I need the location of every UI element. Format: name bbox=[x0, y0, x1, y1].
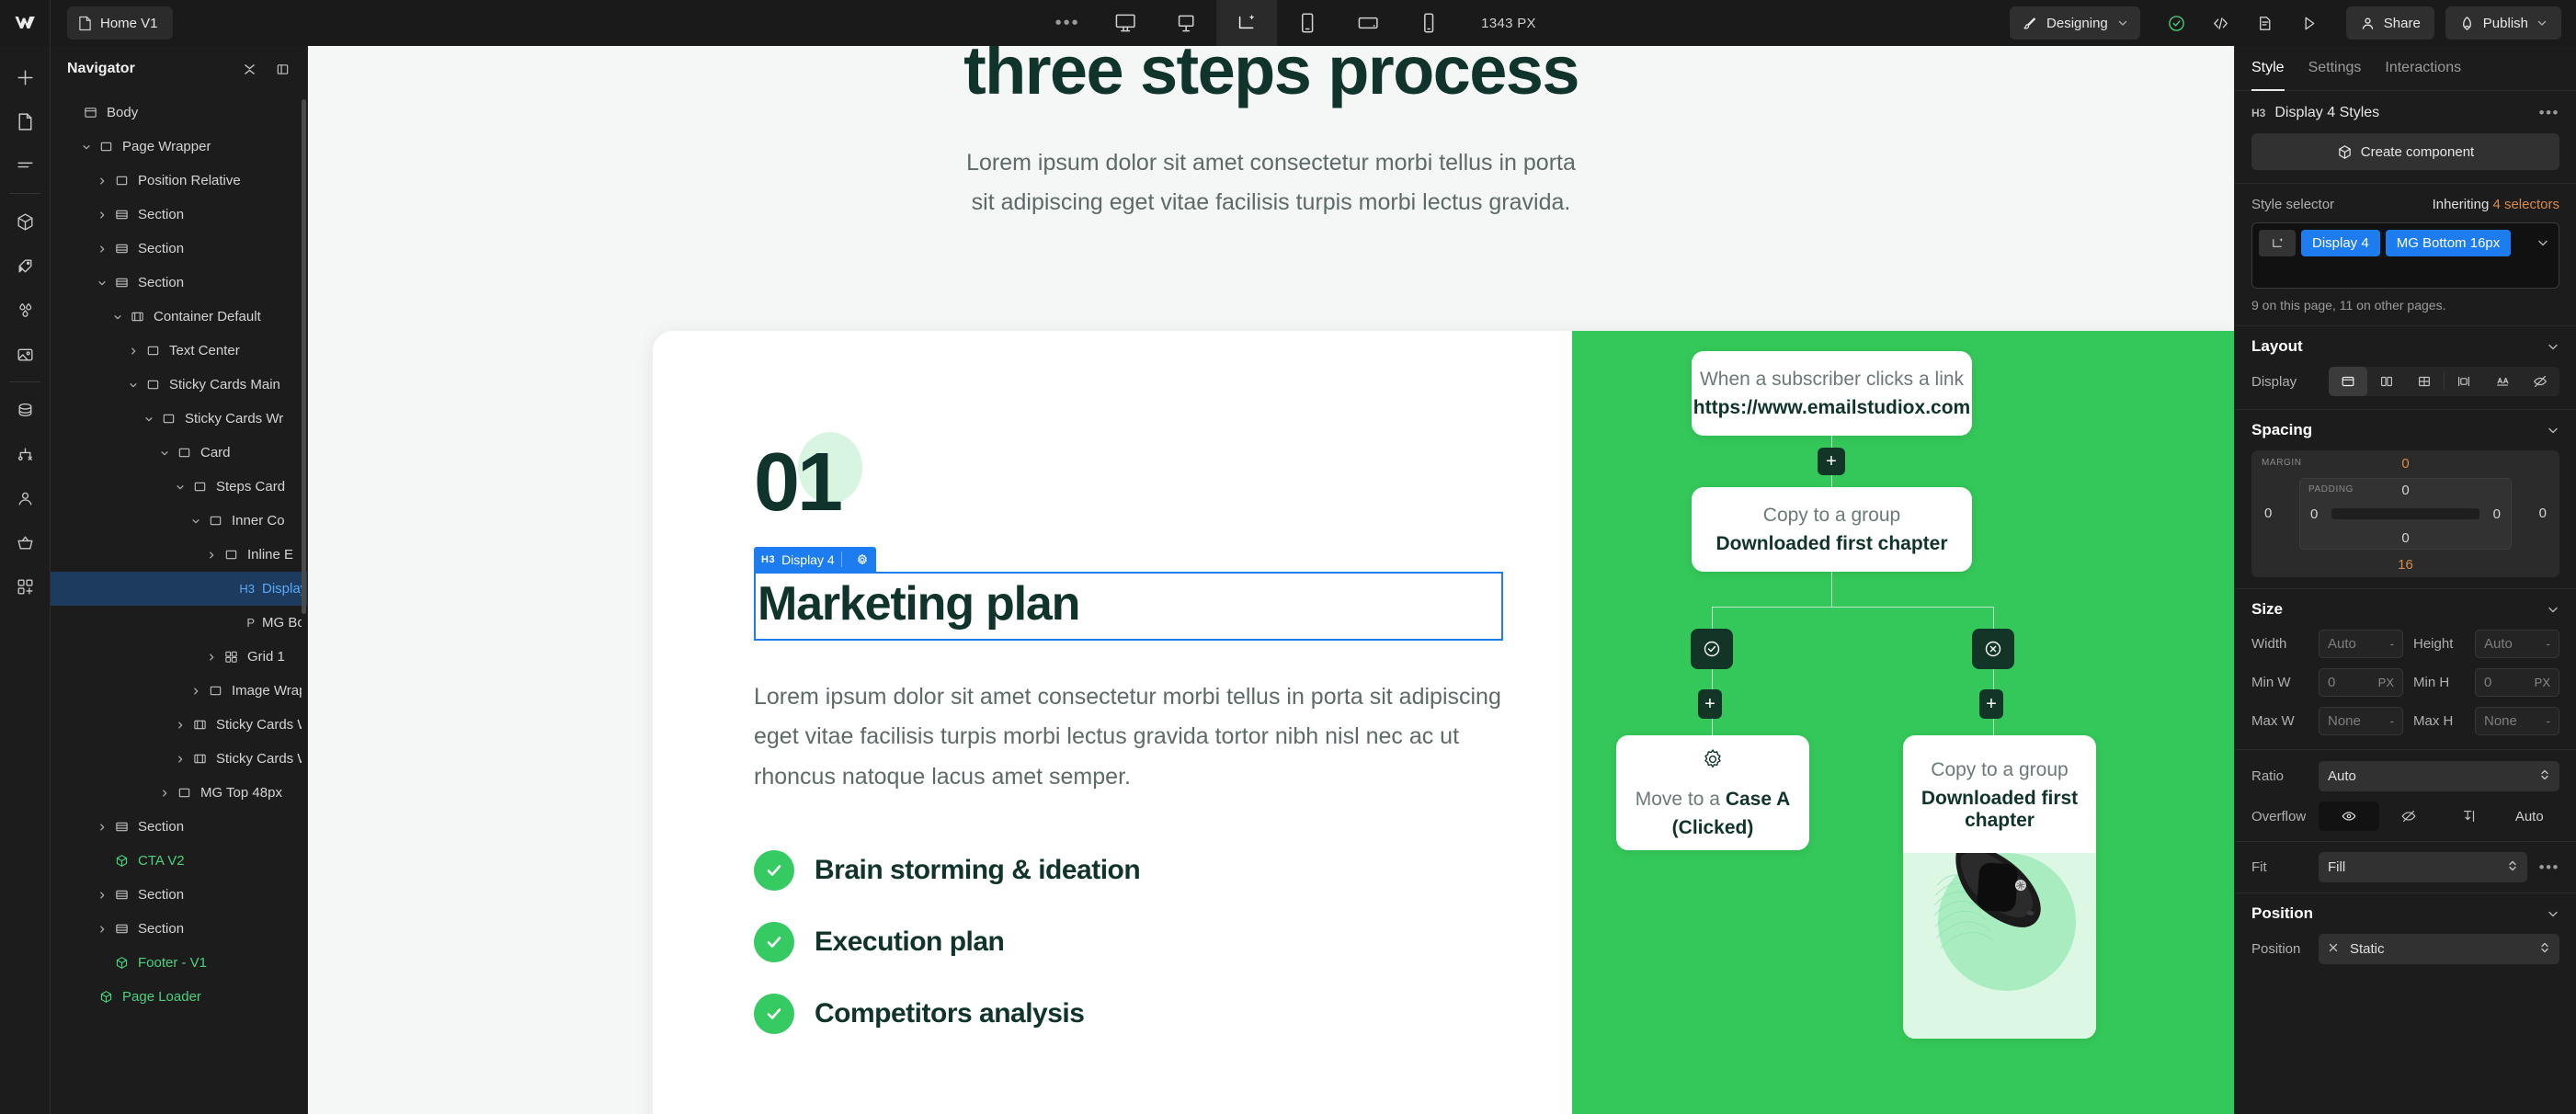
twisty-closed[interactable] bbox=[93, 198, 111, 232]
twisty-closed[interactable] bbox=[202, 640, 221, 674]
container-icon bbox=[189, 718, 210, 732]
selection-badge[interactable]: H3 Display 4 bbox=[754, 547, 876, 572]
width-label: Width bbox=[2251, 636, 2308, 652]
share-button[interactable]: Share bbox=[2346, 6, 2434, 40]
navigator-item-steps-card[interactable]: Steps Card bbox=[51, 470, 307, 504]
navigator-item-section[interactable]: Section bbox=[51, 232, 307, 266]
breakpoint-base-active[interactable] bbox=[1216, 0, 1277, 46]
add-elements-button[interactable] bbox=[0, 55, 51, 99]
publish-status-button[interactable] bbox=[2157, 3, 2197, 43]
spacing-widget[interactable]: MARGIN 0 0 0 16 PADDING 0 0 0 0 bbox=[2251, 450, 2559, 577]
fit-value: Fill bbox=[2328, 859, 2345, 875]
position-header[interactable]: Position bbox=[2235, 893, 2576, 934]
selector-chip-display4[interactable]: Display 4 bbox=[2301, 230, 2380, 256]
twisty-none bbox=[218, 606, 236, 640]
breakpoint-desktop-large[interactable] bbox=[1095, 0, 1156, 46]
navigator-item-inner-co[interactable]: Inner Co bbox=[51, 504, 307, 538]
margin-top-value[interactable]: 0 bbox=[2401, 456, 2409, 472]
container-icon bbox=[127, 310, 147, 324]
rail-divider bbox=[9, 193, 40, 194]
padding-right-value[interactable]: 0 bbox=[2493, 506, 2501, 522]
navigator-item-sticky-cards-wr[interactable]: Sticky Cards Wr bbox=[51, 402, 307, 436]
navigator-item-label: Sticky Cards Main bbox=[169, 377, 280, 392]
navigator-item-section[interactable]: Section bbox=[51, 266, 307, 300]
canvas-width-label: 1343 PX bbox=[1481, 16, 1536, 31]
navigator-item-label: Steps Card bbox=[216, 479, 285, 494]
padding-left-value[interactable]: 0 bbox=[2310, 506, 2318, 522]
audit-button[interactable] bbox=[2245, 3, 2285, 43]
padding-label: PADDING bbox=[2308, 484, 2354, 494]
size-header[interactable]: Size bbox=[2235, 589, 2576, 630]
designer-body: Navigator BodyPage WrapperPosition Relat… bbox=[0, 46, 2576, 1114]
check-circle-icon bbox=[754, 850, 794, 891]
margin-bottom-value[interactable]: 16 bbox=[2398, 557, 2413, 573]
branch-no-icon[interactable] bbox=[1972, 629, 2014, 669]
add-step-button-2[interactable]: + bbox=[1698, 689, 1722, 719]
promo-image: Get 10% OFF on your next purchase Lorem … bbox=[1903, 853, 2096, 1039]
padding-top-value[interactable]: 0 bbox=[2401, 483, 2409, 498]
flow-node-promo-line2: Downloaded first chapter bbox=[1903, 788, 2096, 832]
step-number[interactable]: 01 bbox=[754, 441, 840, 524]
navigator-item-mg-top-48px[interactable]: MG Top 48px bbox=[51, 776, 307, 810]
code-button[interactable] bbox=[2201, 3, 2241, 43]
selected-element-wrapper: H3 Display 4 Marketing plan bbox=[754, 572, 1503, 641]
fit-select[interactable]: Fill bbox=[2319, 852, 2527, 882]
select-arrows-icon bbox=[2539, 941, 2550, 958]
navigator-item-label: CTA V2 bbox=[138, 853, 185, 869]
navigator-title: Navigator bbox=[67, 61, 228, 77]
breakpoint-mobile-landscape[interactable] bbox=[1338, 0, 1398, 46]
maxh-unit: - bbox=[2547, 714, 2550, 728]
connector-branch-horizontal bbox=[1712, 607, 1993, 608]
navigator-item-label: MG Bo bbox=[262, 615, 302, 631]
body-icon bbox=[80, 106, 100, 119]
users-button[interactable] bbox=[0, 476, 51, 520]
publish-button[interactable]: Publish bbox=[2445, 6, 2561, 40]
overflow-label: Overflow bbox=[2251, 809, 2308, 824]
element-style-more-button[interactable]: ••• bbox=[2539, 104, 2559, 122]
selector-chip-mg-bottom[interactable]: MG Bottom 16px bbox=[2386, 230, 2512, 256]
steps-card: 01 H3 Display 4 bbox=[653, 331, 2234, 1114]
position-label: Position bbox=[2251, 941, 2308, 957]
eye-off-icon bbox=[2400, 808, 2417, 824]
component-cube-icon bbox=[15, 211, 36, 233]
webflow-logo-icon[interactable] bbox=[0, 0, 51, 46]
chevron-down-icon bbox=[2536, 236, 2549, 249]
navigator-item-cta-v2[interactable]: CTA V2 bbox=[51, 844, 307, 878]
close-icon bbox=[2328, 941, 2339, 954]
navigator-item-label: Section bbox=[138, 275, 184, 290]
navigator-item-position-relative[interactable]: Position Relative bbox=[51, 164, 307, 198]
maxw-label: Max W bbox=[2251, 713, 2308, 729]
layout-header[interactable]: Layout bbox=[2235, 326, 2576, 367]
navigator-item-image-wrap[interactable]: Image Wrap bbox=[51, 674, 307, 708]
section-icon bbox=[111, 276, 131, 290]
selected-heading-box[interactable]: Marketing plan bbox=[754, 572, 1503, 641]
width-input[interactable]: Auto- bbox=[2319, 630, 2403, 658]
navigator-item-body[interactable]: Body bbox=[51, 96, 307, 130]
section-icon bbox=[111, 820, 131, 834]
navigator-item-label: Page Wrapper bbox=[122, 139, 211, 154]
element-tag: H3 bbox=[236, 582, 255, 596]
components-button[interactable] bbox=[0, 199, 51, 244]
twisty-closed[interactable] bbox=[171, 742, 189, 776]
size-divider bbox=[2235, 749, 2576, 750]
twisty-open[interactable] bbox=[171, 470, 189, 504]
plus-icon bbox=[15, 67, 36, 88]
margin-label: MARGIN bbox=[2262, 458, 2302, 468]
maxw-unit: - bbox=[2390, 714, 2394, 728]
margin-right-value[interactable]: 0 bbox=[2539, 506, 2547, 521]
mobile-landscape-icon bbox=[1356, 11, 1380, 35]
left-toolbar bbox=[0, 46, 51, 1114]
style-manager-button[interactable] bbox=[0, 244, 51, 288]
rail-divider-2 bbox=[9, 381, 40, 382]
navigator-item-sticky-cards-wr[interactable]: Sticky Cards Wr bbox=[51, 708, 307, 742]
navigator-item-text-center[interactable]: Text Center bbox=[51, 334, 307, 368]
hero-subtext-line1: Lorem ipsum dolor sit amet consectetur m… bbox=[904, 143, 1639, 183]
ecommerce-button[interactable] bbox=[0, 520, 51, 564]
navigator-button[interactable] bbox=[0, 143, 51, 188]
navigator-item-display[interactable]: H3Display bbox=[51, 572, 307, 606]
navigator-item-sticky-cards-main[interactable]: Sticky Cards Main bbox=[51, 368, 307, 402]
breakpoints-more-button[interactable]: ••• bbox=[1040, 0, 1095, 46]
twisty-open[interactable] bbox=[140, 402, 158, 436]
panel-dock-button[interactable] bbox=[270, 57, 294, 81]
top-toolbar-right: Designing Share Publish bbox=[2010, 3, 2576, 43]
connector-branch-right bbox=[1993, 607, 1994, 629]
display-mode-segmented bbox=[2329, 367, 2559, 396]
canvas-viewport: three steps process Lorem ipsum dolor si… bbox=[308, 46, 2234, 1114]
div-icon bbox=[205, 514, 225, 528]
navigator-item-label: Section bbox=[138, 241, 184, 256]
mode-selector[interactable]: Designing bbox=[2010, 6, 2140, 40]
overflow-hidden-button[interactable] bbox=[2379, 801, 2440, 831]
flow-node-move-case-line1: Move to a Case A bbox=[1636, 789, 1791, 811]
navigator-item-section[interactable]: Section bbox=[51, 912, 307, 946]
navigator-item-label: Section bbox=[138, 921, 184, 937]
gear-icon bbox=[856, 553, 869, 566]
flow-node-copy-group[interactable]: Copy to a group Downloaded first chapter bbox=[1692, 487, 1972, 572]
element-style-name: Display 4 Styles bbox=[2274, 105, 2529, 121]
navigator-item-sticky-cards-wr[interactable]: Sticky Cards Wr bbox=[51, 742, 307, 776]
branch-yes-icon[interactable] bbox=[1691, 629, 1733, 669]
minw-value: 0 bbox=[2328, 675, 2335, 690]
fit-more-button[interactable]: ••• bbox=[2537, 858, 2559, 877]
flow-node-move-case-line2: (Clicked) bbox=[1672, 817, 1754, 839]
apps-button[interactable] bbox=[0, 564, 51, 608]
move-case-name: Case A bbox=[1726, 789, 1790, 810]
move-prefix: Move to a bbox=[1636, 789, 1726, 810]
navigator-item-inline-e[interactable]: Inline E bbox=[51, 538, 307, 572]
add-step-button-1[interactable]: + bbox=[1818, 448, 1845, 475]
margin-left-value[interactable]: 0 bbox=[2264, 506, 2272, 521]
users-icon bbox=[15, 488, 36, 509]
variables-button[interactable] bbox=[0, 288, 51, 332]
min-size-row: Min W 0PX Min H 0PX bbox=[2235, 668, 2576, 707]
twisty-open[interactable] bbox=[155, 436, 174, 470]
display-block-icon bbox=[2340, 373, 2356, 390]
display-label: Display bbox=[2251, 374, 2318, 390]
navigator-item-label: Sticky Cards Wr bbox=[185, 411, 283, 426]
selection-settings-button[interactable] bbox=[849, 553, 876, 566]
ratio-select[interactable]: Auto bbox=[2319, 761, 2559, 791]
div-icon bbox=[174, 446, 194, 460]
select-arrows-icon bbox=[2539, 768, 2550, 785]
twisty-open[interactable] bbox=[93, 266, 111, 300]
selector-dropdown-button[interactable] bbox=[2536, 236, 2549, 253]
fit-label: Fit bbox=[2251, 859, 2308, 875]
selector-state-button[interactable] bbox=[2259, 230, 2296, 256]
display-inline-block-icon bbox=[2456, 373, 2472, 390]
navigator-item-page-loader[interactable]: Page Loader bbox=[51, 980, 307, 1014]
twisty-closed[interactable] bbox=[171, 708, 189, 742]
twisty-closed[interactable] bbox=[187, 674, 205, 708]
monitor-large-icon bbox=[1113, 11, 1137, 35]
section-icon bbox=[111, 922, 131, 936]
display-none-button[interactable] bbox=[2521, 367, 2559, 396]
padding-bottom-value[interactable]: 0 bbox=[2401, 530, 2409, 546]
maxh-input[interactable]: None- bbox=[2475, 707, 2559, 735]
navigator-item-grid-1[interactable]: Grid 1 bbox=[51, 640, 307, 674]
ratio-row: Ratio Auto bbox=[2235, 761, 2576, 801]
tab-interactions[interactable]: Interactions bbox=[2385, 46, 2461, 91]
person-icon bbox=[2360, 16, 2376, 31]
maxh-value: None bbox=[2484, 713, 2517, 729]
navigator-item-label: Inline E bbox=[247, 547, 293, 563]
overflow-auto-button[interactable]: Auto bbox=[2500, 801, 2560, 831]
design-canvas[interactable]: three steps process Lorem ipsum dolor si… bbox=[308, 46, 2234, 1114]
tab-style[interactable]: Style bbox=[2251, 46, 2285, 91]
check-circle-icon bbox=[2167, 14, 2186, 33]
height-input[interactable]: Auto- bbox=[2475, 630, 2559, 658]
div-icon bbox=[158, 412, 178, 426]
grid-icon bbox=[221, 650, 241, 664]
twisty-open[interactable] bbox=[77, 130, 96, 164]
base-breakpoint-icon bbox=[1235, 11, 1259, 35]
overflow-row: Overflow Auto bbox=[2235, 801, 2576, 841]
div-icon bbox=[142, 344, 163, 358]
selector-input-box[interactable]: Display 4 MG Bottom 16px bbox=[2251, 222, 2559, 289]
display-inline-block-button[interactable] bbox=[2445, 367, 2483, 396]
check-circle-icon bbox=[754, 922, 794, 962]
navigator-item-label: Page Loader bbox=[122, 989, 201, 1005]
tab-settings[interactable]: Settings bbox=[2308, 46, 2362, 91]
connector-2 bbox=[1831, 572, 1832, 607]
twisty-open[interactable] bbox=[124, 368, 142, 402]
hero-heading[interactable]: three steps process bbox=[308, 46, 2234, 107]
size-section: Size Width Auto- Height Auto- Min W 0PX … bbox=[2235, 588, 2576, 892]
minw-input[interactable]: 0PX bbox=[2319, 668, 2403, 697]
navigator-item-label: Sticky Cards Wr bbox=[216, 717, 302, 733]
basket-icon bbox=[15, 532, 36, 553]
section-icon bbox=[111, 208, 131, 222]
twisty-closed[interactable] bbox=[93, 232, 111, 266]
selection-badge-tag: H3 bbox=[761, 554, 775, 565]
position-select[interactable]: Static bbox=[2319, 934, 2559, 964]
twisty-open[interactable] bbox=[108, 300, 127, 334]
height-label: Height bbox=[2413, 636, 2465, 652]
page-tab[interactable]: Home V1 bbox=[67, 6, 173, 40]
twisty-none bbox=[77, 980, 96, 1014]
navigator-item-section[interactable]: Section bbox=[51, 198, 307, 232]
flow-node-trigger[interactable]: When a subscriber clicks a link https://… bbox=[1692, 351, 1972, 436]
checklist-item[interactable]: Competitors analysis bbox=[754, 994, 1572, 1034]
div-icon bbox=[174, 786, 194, 800]
display-none-icon bbox=[2532, 373, 2548, 390]
spacing-header[interactable]: Spacing bbox=[2235, 410, 2576, 450]
navigator-item-label: Container Default bbox=[154, 309, 261, 324]
check-circle-icon bbox=[754, 994, 794, 1034]
mobile-icon bbox=[1417, 11, 1441, 35]
twisty-closed[interactable] bbox=[124, 334, 142, 368]
twisty-none bbox=[218, 572, 236, 606]
twisty-closed[interactable] bbox=[93, 164, 111, 198]
navigator-tree[interactable]: BodyPage WrapperPosition RelativeSection… bbox=[51, 92, 307, 1114]
twisty-closed[interactable] bbox=[93, 810, 111, 844]
maxw-input[interactable]: None- bbox=[2319, 707, 2403, 735]
navigator-item-footer-v1[interactable]: Footer - V1 bbox=[51, 946, 307, 980]
hero-subtext[interactable]: Lorem ipsum dolor sit amet consectetur m… bbox=[904, 143, 1639, 222]
section-icon bbox=[111, 888, 131, 902]
steps-card-content: 01 H3 Display 4 bbox=[653, 331, 1572, 1114]
breakpoint-switcher: ••• 1343 PX bbox=[1040, 0, 1536, 46]
section-icon bbox=[111, 242, 131, 256]
assets-button[interactable] bbox=[0, 332, 51, 376]
breakpoint-mobile[interactable] bbox=[1398, 0, 1459, 46]
display-row: Display bbox=[2235, 367, 2576, 409]
style-selector-label: Style selector bbox=[2251, 197, 2334, 212]
chevron-down-icon bbox=[2547, 907, 2559, 920]
height-value: Auto bbox=[2484, 636, 2513, 652]
inheriting-info[interactable]: Inheriting 4 selectors bbox=[2433, 197, 2559, 212]
pages-button[interactable] bbox=[0, 99, 51, 143]
navigator-item-label: Section bbox=[138, 887, 184, 903]
div-icon bbox=[205, 684, 225, 698]
spacing-section: Spacing MARGIN 0 0 0 16 PADDING 0 0 bbox=[2235, 409, 2576, 588]
step-body-text[interactable]: Lorem ipsum dolor sit amet consectetur m… bbox=[754, 677, 1508, 798]
div-icon bbox=[221, 548, 241, 562]
share-label: Share bbox=[2384, 16, 2421, 31]
width-height-row: Width Auto- Height Auto- bbox=[2235, 630, 2576, 668]
style-panel-tabs: Style Settings Interactions bbox=[2235, 46, 2576, 91]
database-icon bbox=[15, 400, 36, 421]
twisty-closed[interactable] bbox=[93, 912, 111, 946]
collapse-all-icon bbox=[243, 63, 256, 76]
navigator-item-label: Display bbox=[262, 581, 302, 597]
step-checklist: Brain storming & ideationExecution planC… bbox=[754, 850, 1572, 1034]
overflow-scroll-button[interactable] bbox=[2439, 801, 2500, 831]
navigator-panel: Navigator BodyPage WrapperPosition Relat… bbox=[51, 46, 308, 1114]
inheriting-prefix: Inheriting bbox=[2433, 197, 2493, 212]
chevron-down-icon bbox=[2536, 17, 2548, 28]
selector-chips: Display 4 MG Bottom 16px bbox=[2259, 230, 2552, 256]
display-grid-button[interactable] bbox=[2405, 367, 2444, 396]
navigator-icon bbox=[15, 155, 36, 176]
overflow-visible-button[interactable] bbox=[2319, 801, 2379, 831]
preview-button[interactable] bbox=[2289, 3, 2330, 43]
cms-button[interactable] bbox=[0, 388, 51, 432]
element-style-row: H3 Display 4 Styles ••• bbox=[2251, 104, 2559, 122]
navigator-item-label: Section bbox=[138, 207, 184, 222]
navigator-scrollbar[interactable] bbox=[302, 99, 306, 614]
navigator-item-container-default[interactable]: Container Default bbox=[51, 300, 307, 334]
panel-dock-icon bbox=[276, 63, 290, 76]
navigator-item-card[interactable]: Card bbox=[51, 436, 307, 470]
connector-branch-left bbox=[1712, 607, 1713, 629]
logic-icon bbox=[15, 444, 36, 465]
create-component-label: Create component bbox=[2361, 144, 2474, 160]
maxh-label: Max H bbox=[2413, 713, 2465, 729]
x-circle-icon bbox=[1983, 639, 2003, 659]
ratio-value: Auto bbox=[2328, 768, 2356, 784]
flow-diagram: When a subscriber clicks a link https://… bbox=[1572, 331, 2234, 1114]
chevron-down-icon bbox=[2117, 17, 2128, 28]
navigator-item-label: Grid 1 bbox=[247, 649, 285, 665]
selection-badge-label: Display 4 bbox=[781, 552, 835, 567]
minh-label: Min H bbox=[2413, 675, 2465, 690]
style-panel: Style Settings Interactions H3 Display 4… bbox=[2234, 46, 2576, 1114]
navigator-item-label: Section bbox=[138, 819, 184, 835]
navigator-item-label: Inner Co bbox=[232, 513, 285, 529]
twisty-none bbox=[93, 844, 111, 878]
twisty-open[interactable] bbox=[187, 504, 205, 538]
brush-icon bbox=[2022, 16, 2037, 31]
element-style-section: H3 Display 4 Styles ••• Create component bbox=[2235, 91, 2576, 184]
display-grid-icon bbox=[2416, 373, 2433, 390]
step-number-wrap: 01 bbox=[754, 441, 840, 524]
document-audit-icon bbox=[2255, 14, 2274, 33]
navigator-item-page-wrapper[interactable]: Page Wrapper bbox=[51, 130, 307, 164]
checklist-item-label: Brain storming & ideation bbox=[815, 855, 1140, 886]
webflow-designer: Home V1 ••• 1343 PX bbox=[0, 0, 2576, 1114]
create-component-button[interactable]: Create component bbox=[2251, 133, 2559, 170]
mode-label: Designing bbox=[2046, 16, 2108, 31]
checklist-item[interactable]: Brain storming & ideation bbox=[754, 850, 1572, 891]
div-icon bbox=[111, 174, 131, 188]
minh-input[interactable]: 0PX bbox=[2475, 668, 2559, 697]
navigator-item-section[interactable]: Section bbox=[51, 878, 307, 912]
add-step-button-3[interactable]: + bbox=[1979, 689, 2003, 719]
navigator-item-mg-bo[interactable]: PMG Bo bbox=[51, 606, 307, 640]
breakpoint-tablet[interactable] bbox=[1277, 0, 1338, 46]
breakpoint-desktop[interactable] bbox=[1156, 0, 1216, 46]
top-toolbar: Home V1 ••• 1343 PX bbox=[0, 0, 2576, 46]
display-inline-button[interactable] bbox=[2483, 367, 2522, 396]
publish-label: Publish bbox=[2483, 16, 2528, 31]
component-icon bbox=[96, 990, 116, 1004]
twisty-closed[interactable] bbox=[155, 776, 174, 810]
collapse-all-button[interactable] bbox=[237, 57, 261, 81]
navigator-item-section[interactable]: Section bbox=[51, 810, 307, 844]
display-block-button[interactable] bbox=[2329, 367, 2367, 396]
logic-button[interactable] bbox=[0, 432, 51, 476]
checklist-item[interactable]: Execution plan bbox=[754, 922, 1572, 962]
check-circle-icon bbox=[1702, 639, 1722, 659]
pages-icon bbox=[15, 111, 36, 132]
width-unit: - bbox=[2390, 637, 2394, 651]
layout-title: Layout bbox=[2251, 337, 2547, 356]
clear-position-icon[interactable] bbox=[2328, 941, 2339, 958]
flow-node-promo[interactable]: Copy to a group Downloaded first chapter bbox=[1903, 735, 2096, 1039]
flow-node-move-case[interactable]: Move to a Case A (Clicked) bbox=[1616, 735, 1809, 850]
twisty-closed[interactable] bbox=[93, 878, 111, 912]
display-flex-button[interactable] bbox=[2367, 367, 2406, 396]
scroll-icon bbox=[2461, 808, 2478, 824]
display-flex-icon bbox=[2378, 373, 2395, 390]
twisty-closed[interactable] bbox=[202, 538, 221, 572]
navigator-item-label: Text Center bbox=[169, 343, 240, 358]
